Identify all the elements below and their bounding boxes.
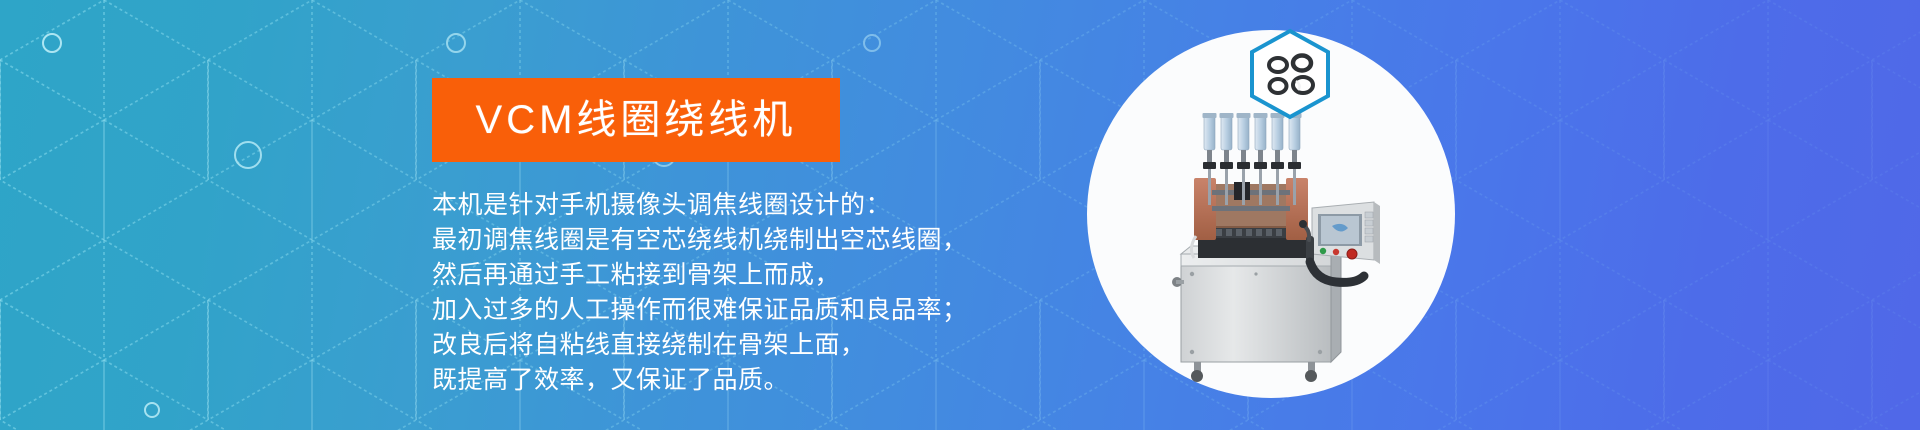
coil-sample-badge <box>1248 28 1332 120</box>
description-line: 既提高了效率，又保证了品质。 <box>432 363 1092 398</box>
product-description: 本机是针对手机摄像头调焦线圈设计的： 最初调焦线圈是有空芯绕线机绕制出空芯线圈，… <box>432 188 1092 398</box>
description-line: 改良后将自粘线直接绕制在骨架上面， <box>432 328 1092 363</box>
description-line: 然后再通过手工粘接到骨架上而成， <box>432 258 1092 293</box>
product-title-box: VCM线圈绕线机 <box>432 78 840 162</box>
description-line: 最初调焦线圈是有空芯绕线机绕制出空芯线圈， <box>432 223 1092 258</box>
product-banner: VCM线圈绕线机 本机是针对手机摄像头调焦线圈设计的： 最初调焦线圈是有空芯绕线… <box>0 0 1920 430</box>
winding-machine-photo <box>1136 86 1406 386</box>
page-title: VCM线圈绕线机 <box>476 100 797 140</box>
description-line: 加入过多的人工操作而很难保证品质和良品率； <box>432 293 1092 328</box>
description-line: 本机是针对手机摄像头调焦线圈设计的： <box>432 188 1092 223</box>
banner-content: VCM线圈绕线机 本机是针对手机摄像头调焦线圈设计的： 最初调焦线圈是有空芯绕线… <box>0 0 1100 430</box>
